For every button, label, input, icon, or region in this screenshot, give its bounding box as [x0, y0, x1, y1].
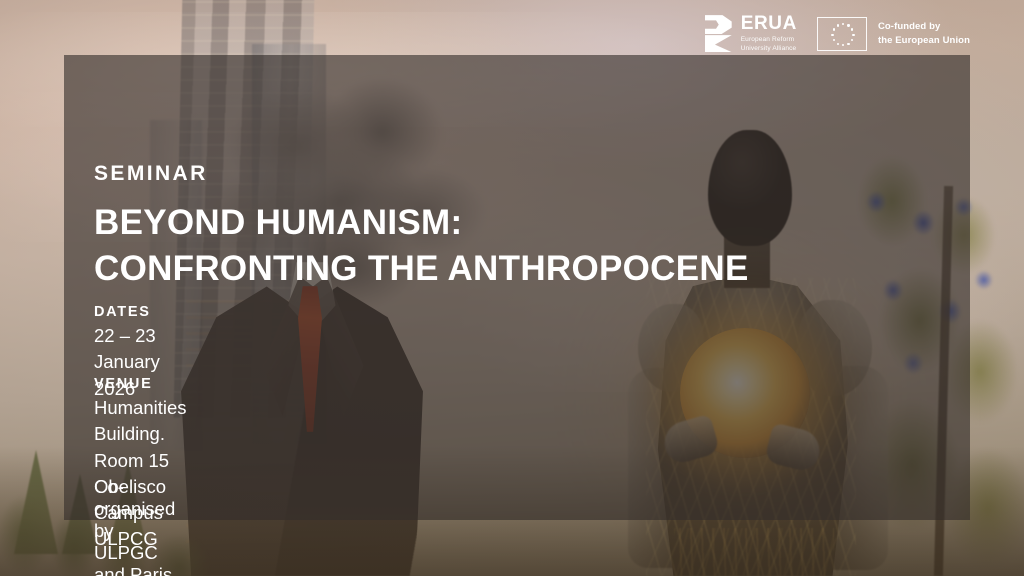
- eu-star: [842, 44, 844, 46]
- title-line-1: BEYOND HUMANISM:: [94, 200, 749, 246]
- title-line-2: CONFRONTING THE ANTHROPOCENE: [94, 246, 749, 292]
- organisers-line: Co-organised by ULPGC and Paris 8 Univer…: [94, 476, 175, 576]
- eu-star: [847, 24, 849, 26]
- eu-star: [837, 24, 839, 26]
- erua-name: ERUA: [741, 14, 797, 33]
- eyebrow-label: SEMINAR: [94, 162, 208, 186]
- erua-logomark-icon: [705, 15, 732, 52]
- dates-label: DATES: [94, 304, 160, 320]
- seminar-poster: ERUA European Reform University Alliance…: [0, 0, 1024, 576]
- venue-label: VENUE: [94, 376, 187, 392]
- venue-line-1: Humanities Building. Room 15: [94, 395, 187, 474]
- erua-wordmark: ERUA European Reform University Alliance: [741, 14, 797, 53]
- eu-star: [851, 28, 853, 30]
- page-title: BEYOND HUMANISM: CONFRONTING THE ANTHROP…: [94, 200, 749, 292]
- erua-logo: ERUA European Reform University Alliance: [705, 14, 797, 53]
- eu-text-line2: the European Union: [878, 34, 970, 48]
- logo-bar: ERUA European Reform University Alliance…: [705, 14, 970, 53]
- erua-subtitle: European Reform University Alliance: [741, 36, 797, 53]
- eu-star: [851, 39, 853, 41]
- eu-star: [831, 34, 833, 36]
- eu-star: [837, 43, 839, 45]
- erua-subtitle-line2: University Alliance: [741, 45, 797, 54]
- erua-subtitle-line1: European Reform: [741, 36, 797, 45]
- eu-star: [842, 23, 844, 25]
- eu-flag-icon: [817, 17, 867, 51]
- eu-star: [833, 28, 835, 30]
- eu-cofunding-text: Co-funded by the European Union: [878, 20, 970, 48]
- eu-star: [852, 34, 854, 36]
- eu-cofunding-logo: Co-funded by the European Union: [817, 17, 970, 51]
- eu-star: [833, 39, 835, 41]
- eu-star: [847, 43, 849, 45]
- eu-text-line1: Co-funded by: [878, 20, 970, 34]
